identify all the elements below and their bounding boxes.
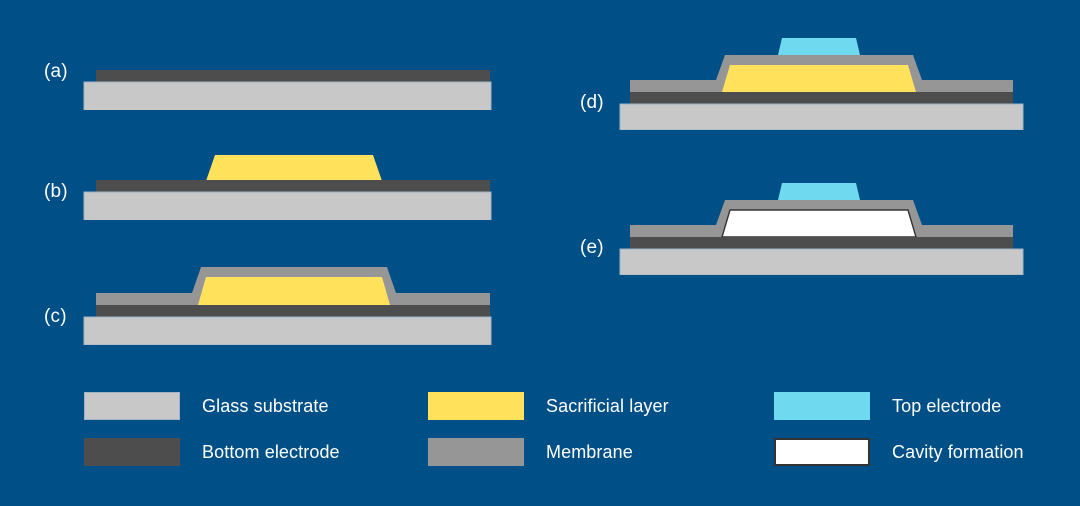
panel-label-b: (b) [44, 181, 68, 203]
cavity-formation-layer [722, 210, 916, 237]
bottom-electrode-layer [96, 180, 490, 192]
legend-swatch-membrane [428, 438, 524, 466]
sacrificial-layer-trapezoid [206, 155, 382, 181]
panel-label-a: (a) [44, 61, 68, 83]
process-step-a [40, 30, 510, 110]
legend-item-top-electrode: Top electrode [774, 383, 1024, 429]
legend-item-cavity-formation: Cavity formation [774, 429, 1024, 475]
legend-column-1: Glass substrate Bottom electrode [84, 383, 340, 475]
process-step-b [40, 140, 510, 220]
process-step-d [575, 25, 1045, 130]
panel-label-c: (c) [44, 306, 67, 328]
legend: Glass substrate Bottom electrode Sacrifi… [0, 383, 1080, 483]
panel-label-e: (e) [580, 237, 604, 259]
glass-substrate-layer [84, 82, 491, 110]
fabrication-process-figure: (a) (b) (c) [0, 0, 1080, 506]
legend-item-sacrificial-layer: Sacrificial layer [428, 383, 669, 429]
cross-section-b [40, 140, 510, 220]
cross-section-e [575, 175, 1045, 275]
legend-label-top-electrode: Top electrode [892, 396, 1001, 417]
legend-swatch-sacrificial-layer [428, 392, 524, 420]
legend-label-bottom-electrode: Bottom electrode [202, 442, 340, 463]
glass-substrate-layer [84, 317, 491, 345]
sacrificial-layer-trapezoid [198, 277, 390, 305]
legend-column-2: Sacrificial layer Membrane [428, 383, 669, 475]
legend-label-cavity-formation: Cavity formation [892, 442, 1024, 463]
legend-label-glass-substrate: Glass substrate [202, 396, 329, 417]
cross-section-d [575, 25, 1045, 130]
top-electrode-layer [778, 38, 860, 55]
legend-item-glass-substrate: Glass substrate [84, 383, 340, 429]
bottom-electrode-layer [96, 70, 490, 82]
legend-swatch-cavity-formation [774, 438, 870, 466]
legend-label-membrane: Membrane [546, 442, 633, 463]
glass-substrate-layer [84, 192, 491, 220]
top-electrode-layer [778, 183, 860, 200]
bottom-electrode-layer [96, 305, 490, 317]
panel-label-d: (d) [580, 92, 604, 114]
legend-swatch-glass-substrate [84, 392, 180, 420]
cross-section-a [40, 30, 510, 110]
legend-label-sacrificial-layer: Sacrificial layer [546, 396, 669, 417]
process-step-e [575, 175, 1045, 275]
legend-swatch-top-electrode [774, 392, 870, 420]
glass-substrate-layer [620, 249, 1023, 275]
cross-section-c [40, 255, 510, 345]
legend-item-bottom-electrode: Bottom electrode [84, 429, 340, 475]
legend-column-3: Top electrode Cavity formation [774, 383, 1024, 475]
legend-item-membrane: Membrane [428, 429, 669, 475]
legend-swatch-bottom-electrode [84, 438, 180, 466]
process-step-c [40, 255, 510, 345]
sacrificial-layer-trapezoid [722, 65, 916, 92]
glass-substrate-layer [620, 104, 1023, 130]
bottom-electrode-layer [630, 237, 1013, 249]
bottom-electrode-layer [630, 92, 1013, 104]
process-step-panels: (a) (b) (c) [0, 0, 1080, 370]
